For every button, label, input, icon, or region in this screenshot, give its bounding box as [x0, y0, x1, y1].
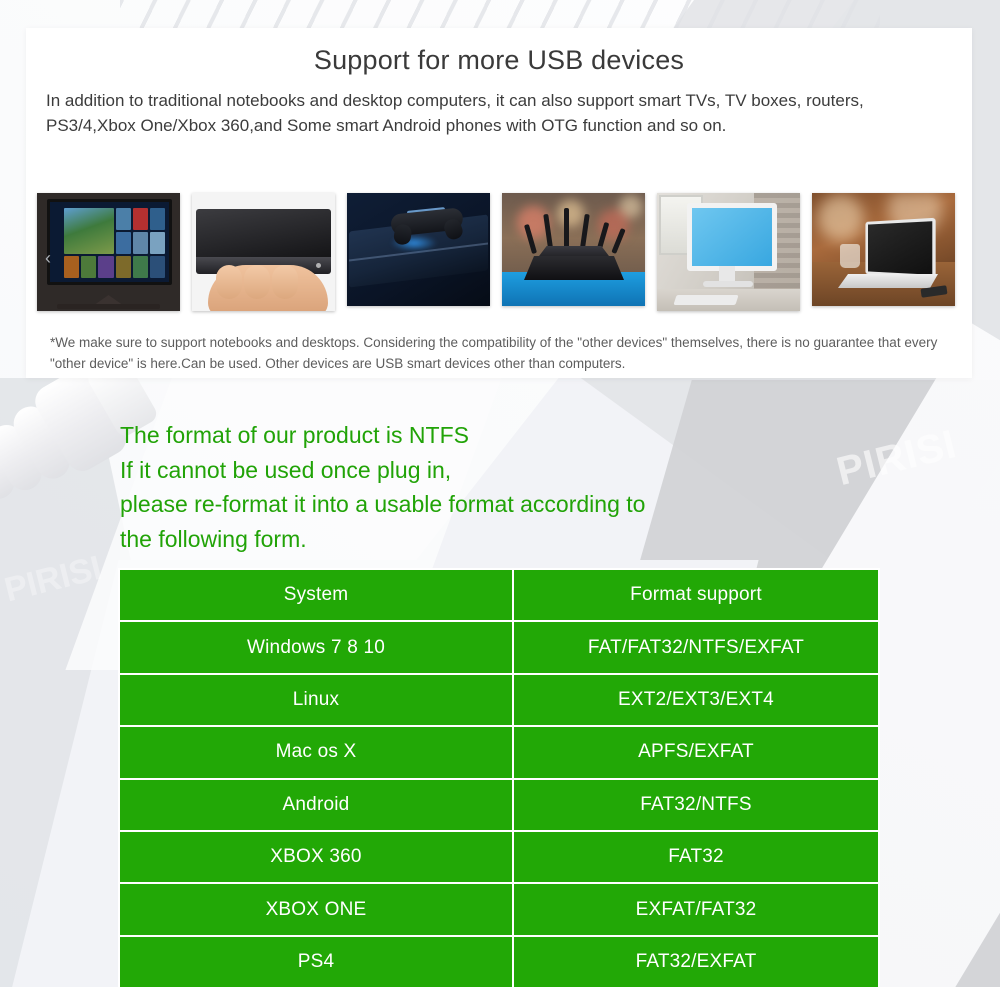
thumbnail-desktop-computer[interactable]: [657, 193, 800, 311]
cell-system: PS4: [118, 937, 514, 987]
table-row: Mac os XAPFS/EXFAT: [118, 727, 880, 779]
thumbnail-ps4-console[interactable]: [347, 193, 490, 306]
cell-system: Android: [118, 780, 514, 832]
table-row: PS4FAT32/EXFAT: [118, 937, 880, 987]
cell-format-support: FAT32/NTFS: [514, 780, 880, 832]
product-description-page: PIRISI PIRISI Support for more USB devic…: [0, 0, 1000, 987]
table-row: AndroidFAT32/NTFS: [118, 780, 880, 832]
carousel-prev-icon[interactable]: ‹: [45, 247, 59, 269]
table-row: LinuxEXT2/EXT3/EXT4: [118, 675, 880, 727]
cell-system: XBOX 360: [118, 832, 514, 884]
cell-format-support: EXT2/EXT3/EXT4: [514, 675, 880, 727]
cell-system: System: [118, 568, 514, 622]
page-title: Support for more USB devices: [26, 45, 972, 76]
card-description: In addition to traditional notebooks and…: [46, 88, 952, 138]
usb-devices-card: Support for more USB devices In addition…: [26, 28, 972, 378]
brand-watermark-secondary: PIRISI: [1, 549, 106, 611]
cell-format-support: FAT/FAT32/NTFS/EXFAT: [514, 622, 880, 674]
table-row: Windows 7 8 10FAT/FAT32/NTFS/EXFAT: [118, 622, 880, 674]
table-row: XBOX 360FAT32: [118, 832, 880, 884]
thumbnail-wifi-router[interactable]: [502, 193, 645, 306]
thumbnail-laptop[interactable]: [812, 193, 955, 306]
format-table-body: SystemFormat supportWindows 7 8 10FAT/FA…: [118, 568, 880, 987]
cell-format-support: EXFAT/FAT32: [514, 884, 880, 936]
format-instructions: The format of our product is NTFS If it …: [120, 418, 645, 556]
cell-system: Windows 7 8 10: [118, 622, 514, 674]
format-support-table: SystemFormat supportWindows 7 8 10FAT/FA…: [118, 568, 880, 987]
cell-format-support: Format support: [514, 568, 880, 622]
compatibility-disclaimer: *We make sure to support notebooks and d…: [50, 332, 954, 374]
cell-format-support: FAT32: [514, 832, 880, 884]
thumbnail-smart-tv[interactable]: ‹: [37, 193, 180, 311]
device-thumbnail-strip: ‹: [37, 193, 963, 311]
cell-system: XBOX ONE: [118, 884, 514, 936]
brand-watermark: PIRISI: [832, 422, 961, 495]
cell-format-support: FAT32/EXFAT: [514, 937, 880, 987]
table-header-row: SystemFormat support: [118, 568, 880, 622]
thumbnail-tv-box[interactable]: [192, 193, 335, 311]
table-row: XBOX ONEEXFAT/FAT32: [118, 884, 880, 936]
cell-format-support: APFS/EXFAT: [514, 727, 880, 779]
cell-system: Mac os X: [118, 727, 514, 779]
cell-system: Linux: [118, 675, 514, 727]
